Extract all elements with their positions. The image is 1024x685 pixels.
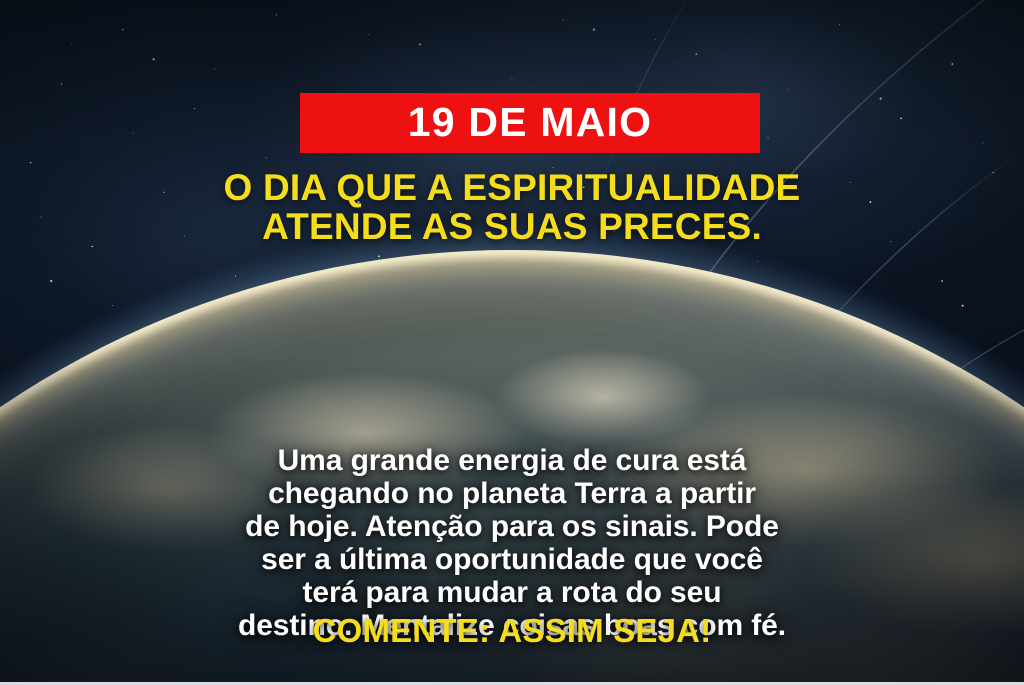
call-to-action: COMENTE: ASSIM SEJA! [0,613,1024,649]
body-line-4: ser a última oportunidade que você [0,543,1024,576]
headline-line-1: O DIA QUE A ESPIRITUALIDADE [0,168,1024,207]
headline: O DIA QUE A ESPIRITUALIDADE ATENDE AS SU… [0,168,1024,246]
poster-image: 19 DE MAIO O DIA QUE A ESPIRITUALIDADE A… [0,0,1024,685]
body-line-3: de hoje. Atenção para os sinais. Pode [0,510,1024,543]
headline-line-2: ATENDE AS SUAS PRECES. [0,207,1024,246]
body-line-5: terá para mudar a rota do seu [0,576,1024,609]
body-line-1: Uma grande energia de cura está [0,444,1024,477]
date-banner-text: 19 DE MAIO [408,102,652,143]
poster-content: 19 DE MAIO O DIA QUE A ESPIRITUALIDADE A… [0,0,1024,685]
date-banner: 19 DE MAIO [300,93,760,153]
body-line-2: chegando no planeta Terra a partir [0,477,1024,510]
